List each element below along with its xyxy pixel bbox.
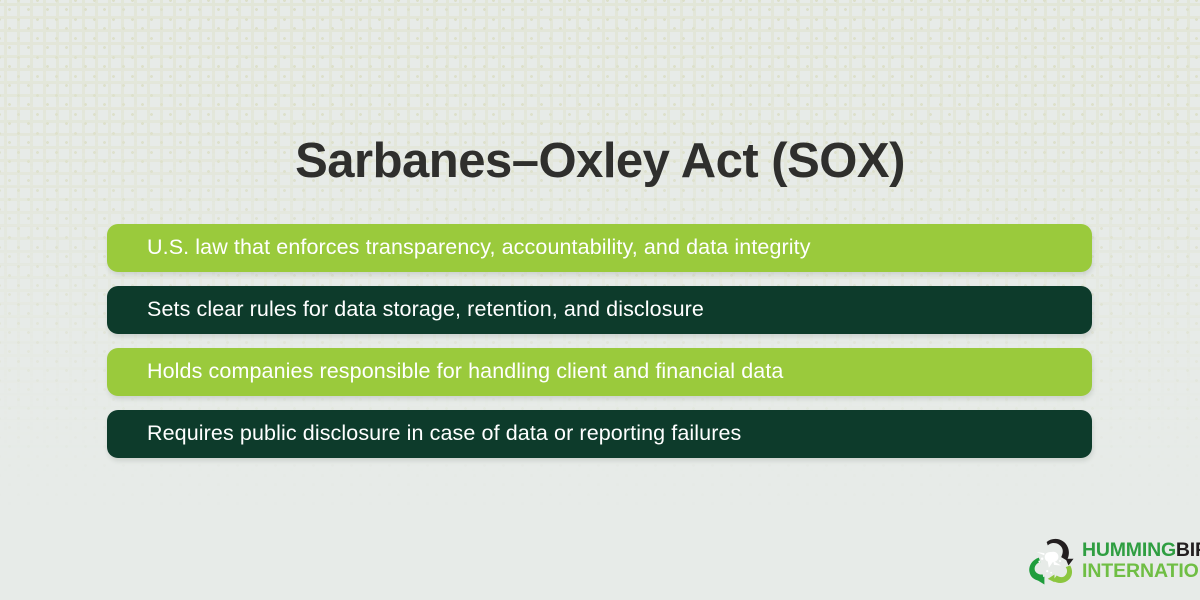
- brand-logo: HUMMINGBIRD INTERNATIONAL: [1022, 532, 1200, 590]
- logo-word-humming: HUMMING: [1082, 539, 1176, 561]
- logo-word-bird: BIRD: [1176, 539, 1200, 561]
- logo-wordmark: HUMMINGBIRD INTERNATIONAL: [1082, 541, 1200, 581]
- logo-word-international: INTERNATIONAL: [1082, 562, 1200, 582]
- bullet-bar-4: Requires public disclosure in case of da…: [107, 410, 1092, 458]
- bullet-bar-3-label: Holds companies responsible for handling…: [147, 361, 783, 383]
- logo-line-1: HUMMINGBIRD: [1082, 541, 1200, 561]
- bullet-bar-1: U.S. law that enforces transparency, acc…: [107, 224, 1092, 272]
- bullet-bar-2: Sets clear rules for data storage, reten…: [107, 286, 1092, 334]
- page-title: Sarbanes–Oxley Act (SOX): [0, 133, 1200, 189]
- bullet-bar-list: U.S. law that enforces transparency, acc…: [107, 224, 1092, 458]
- recycle-hummingbird-icon: [1022, 533, 1078, 589]
- slide-canvas: Sarbanes–Oxley Act (SOX) U.S. law that e…: [0, 0, 1200, 600]
- bullet-bar-1-label: U.S. law that enforces transparency, acc…: [147, 237, 811, 259]
- bullet-bar-3: Holds companies responsible for handling…: [107, 348, 1092, 396]
- bullet-bar-4-label: Requires public disclosure in case of da…: [147, 423, 741, 445]
- bullet-bar-2-label: Sets clear rules for data storage, reten…: [147, 299, 704, 321]
